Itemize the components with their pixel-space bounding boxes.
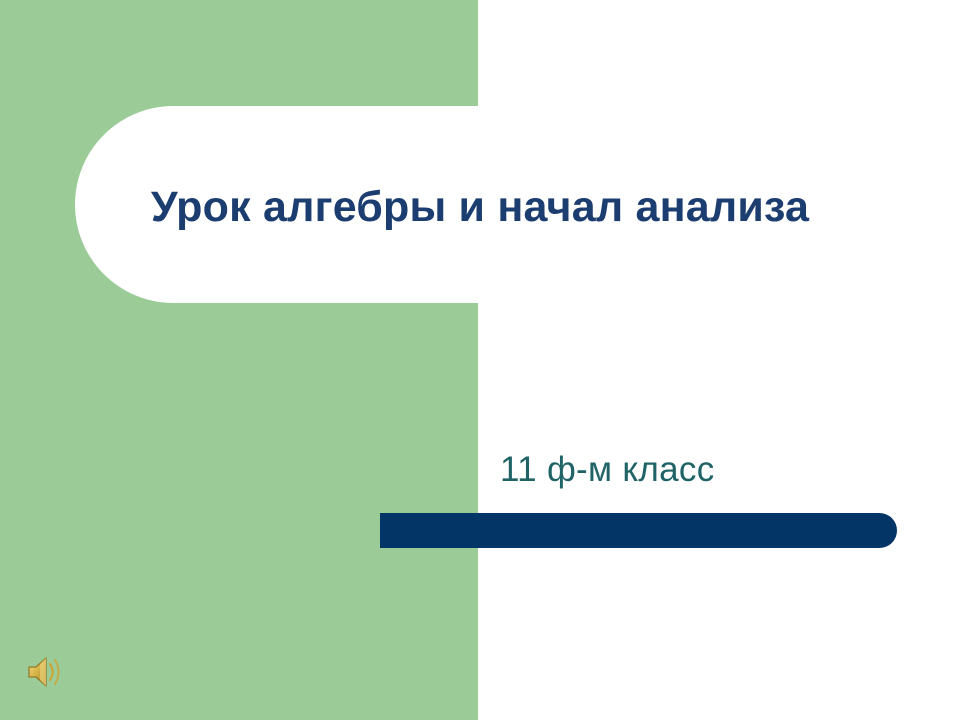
page-title: Урок алгебры и начал анализа <box>0 183 960 232</box>
navy-accent-bar <box>380 513 897 548</box>
slide-subtitle: 11 ф-м класс <box>500 450 715 490</box>
presentation-slide: Урок алгебры и начал анализа 11 ф-м клас… <box>0 0 960 720</box>
sound-speaker-icon[interactable] <box>26 652 64 692</box>
